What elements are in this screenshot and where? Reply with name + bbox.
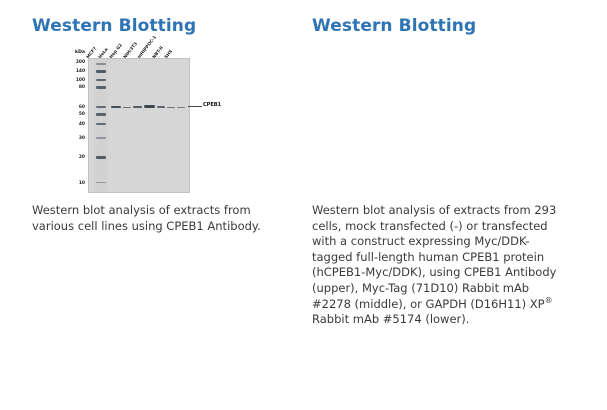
band-lane-5: [157, 106, 165, 108]
band-lane-3: [133, 106, 142, 108]
band-lane-6: [167, 107, 175, 109]
ladder-band-80: [96, 86, 106, 89]
mw-marker-200: 200: [76, 60, 85, 65]
mw-marker-30: 30: [79, 136, 85, 141]
band-lane-2: [123, 107, 131, 109]
western-blotting-panel-left: Western Blotting kDa 200 140 100 80 60 5…: [0, 0, 303, 410]
western-blot-image-left: [88, 58, 190, 193]
band-lane-7: [177, 107, 185, 109]
ladder-band-10: [96, 182, 106, 183]
mw-marker-50: 50: [79, 112, 85, 117]
caption-right: Western blot analysis of extracts from 2…: [312, 203, 562, 328]
molecular-weight-scale-left: kDa 200 140 100 80 60 50 40 30 20 10: [71, 50, 85, 190]
band-lane-4: [144, 105, 155, 109]
page-title-right: Western Blotting: [312, 16, 476, 36]
caption-right-part2: Rabbit mAb #5174 (lower).: [312, 312, 469, 326]
mw-marker-60: 60: [79, 105, 85, 110]
ladder-band-140: [96, 70, 106, 73]
page-title-left: Western Blotting: [32, 16, 196, 36]
target-pointer-line: [188, 106, 202, 107]
ladder-band-50: [96, 113, 106, 116]
screenshot-root: Western Blotting kDa 200 140 100 80 60 5…: [0, 0, 607, 410]
mw-marker-10: 10: [79, 181, 85, 186]
ladder-band-200: [96, 63, 106, 65]
lane-label-group-left: MCF7 HeLa Hep G2 NIH/3T3 mHIPPOC-1 NBT-I…: [86, 40, 196, 60]
mw-marker-40: 40: [79, 122, 85, 127]
caption-left: Western blot analysis of extracts from v…: [32, 203, 277, 234]
ladder-lane: [94, 59, 108, 192]
ladder-band-40: [96, 123, 106, 125]
mw-marker-80: 80: [79, 85, 85, 90]
ladder-band-30: [96, 137, 106, 139]
caption-right-part1: Western blot analysis of extracts from 2…: [312, 203, 556, 311]
mw-marker-100: 100: [76, 78, 85, 83]
mw-marker-140: 140: [76, 69, 85, 74]
ladder-band-100: [96, 79, 106, 81]
ladder-band-60: [96, 106, 106, 108]
mw-unit-label: kDa: [75, 50, 85, 55]
target-label-cpeb1: CPEB1: [203, 102, 221, 108]
western-blotting-panel-right: Western Blotting CPEB1 CPEB1 Myc/DDK-tag…: [303, 0, 607, 410]
band-lane-1: [111, 106, 121, 109]
ladder-band-20: [96, 156, 106, 159]
mw-marker-20: 20: [79, 155, 85, 160]
registered-mark: ®: [545, 296, 553, 305]
